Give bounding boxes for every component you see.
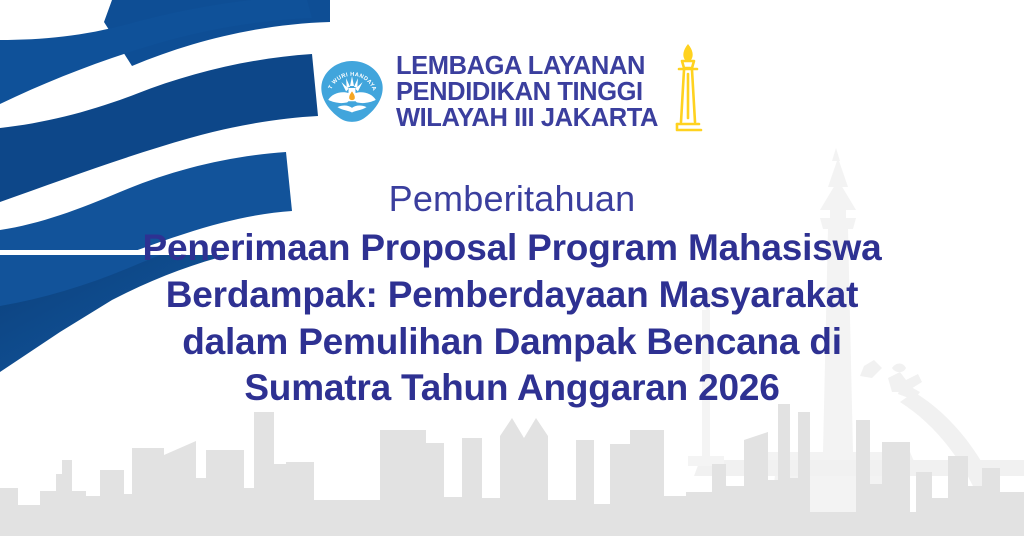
logo-lockup: TUT WURI HANDAYANI — [0, 48, 1024, 136]
wordmark-line-2: PENDIDIKAN TINGGI — [396, 79, 658, 105]
logo-wordmark: LEMBAGA LAYANAN PENDIDIKAN TINGGI WILAYA… — [396, 53, 658, 131]
page-title: Penerimaan Proposal Program Mahasiswa Be… — [82, 225, 942, 411]
wordmark-line-1: LEMBAGA LAYANAN — [396, 53, 658, 79]
tut-wuri-handayani-emblem: TUT WURI HANDAYANI — [319, 59, 385, 125]
monas-monument-icon — [671, 40, 705, 136]
eyebrow-label: Pemberitahuan — [82, 178, 942, 219]
notification-banner: TUT WURI HANDAYANI — [0, 0, 1024, 536]
headline-block: Pemberitahuan Penerimaan Proposal Progra… — [82, 178, 942, 412]
content-layer: TUT WURI HANDAYANI — [0, 0, 1024, 536]
wordmark-line-3: WILAYAH III JAKARTA — [396, 105, 658, 131]
